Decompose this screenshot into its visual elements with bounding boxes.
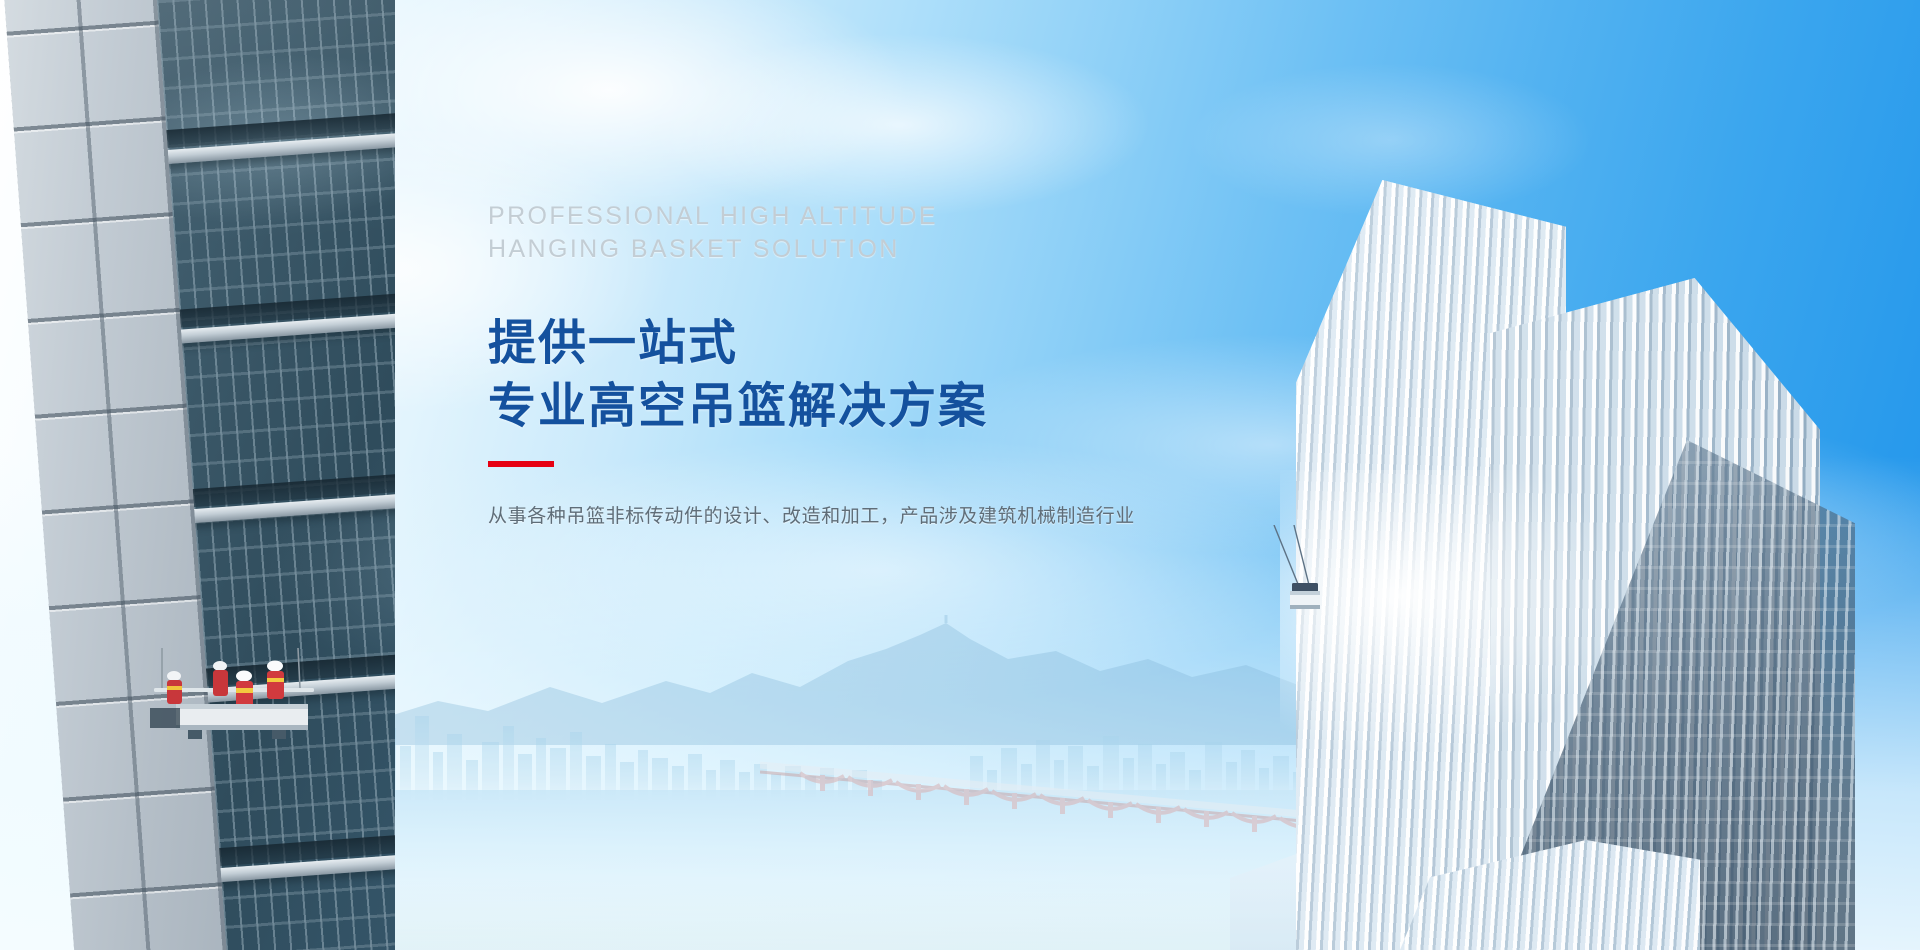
red-accent-rule — [488, 461, 554, 467]
worker — [267, 661, 284, 700]
hero-banner: PROFESSIONAL HIGH ALTITUDE HANGING BASKE… — [0, 0, 1920, 950]
worker — [213, 661, 228, 696]
banner-eyebrow-english: PROFESSIONAL HIGH ALTITUDE HANGING BASKE… — [488, 200, 1288, 266]
banner-subcopy: 从事各种吊篮非标传动件的设计、改造和加工，产品涉及建筑机械制造行业 — [488, 503, 1288, 532]
hero-copy-block: PROFESSIONAL HIGH ALTITUDE HANGING BASKE… — [488, 200, 1288, 531]
worker — [167, 671, 182, 704]
banner-headline: 提供一站式 专业高空吊篮解决方案 — [488, 312, 1288, 439]
left-glass-tower — [0, 0, 395, 950]
suspended-platform-right — [1270, 525, 1328, 620]
sun-glare — [1280, 470, 1620, 750]
cloud — [640, 30, 1160, 220]
worker — [236, 671, 253, 710]
suspended-platform-left — [148, 648, 323, 744]
